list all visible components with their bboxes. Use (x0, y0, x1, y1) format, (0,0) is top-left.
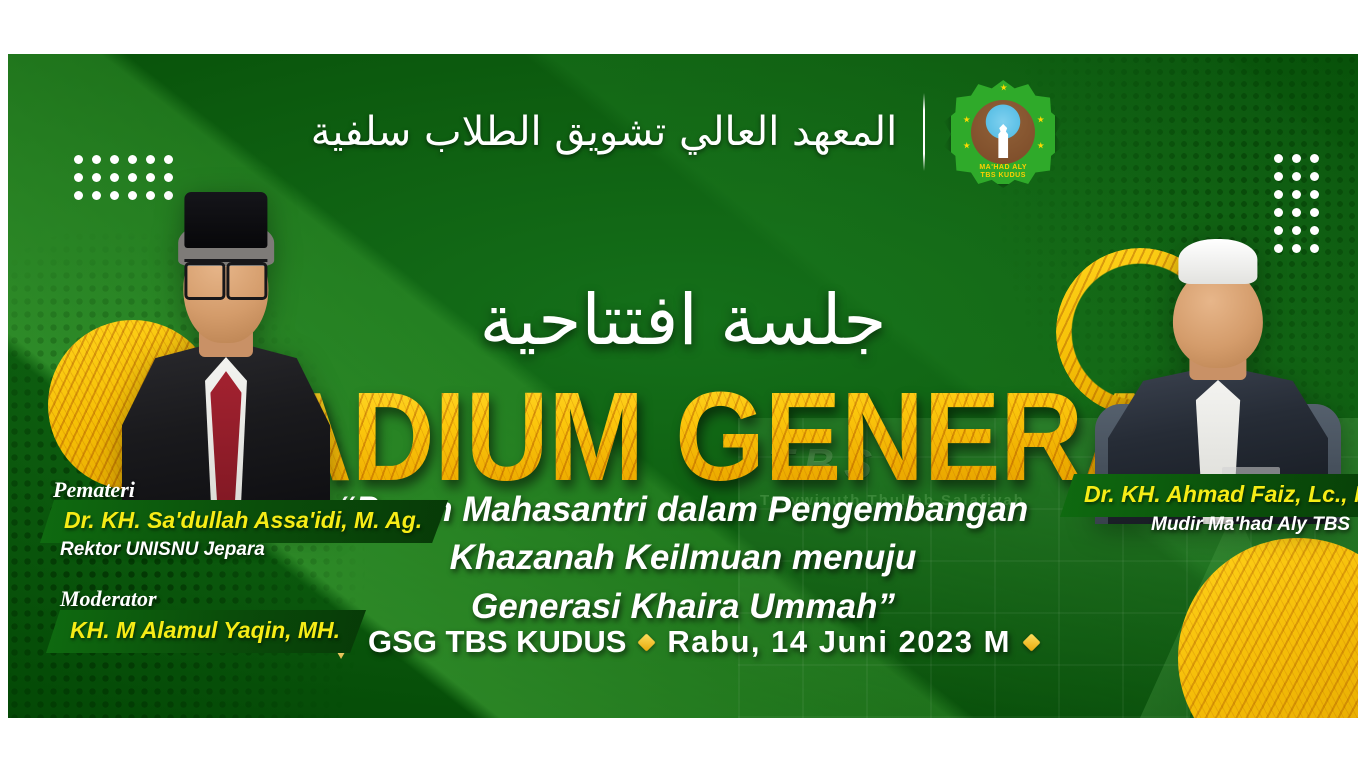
portrait-white-kopiah (1178, 239, 1257, 284)
diamond-separator-icon (638, 633, 656, 651)
portrait-glasses (184, 259, 267, 294)
event-banner: TBS Tasywiquth Thullab Salafiyah (8, 54, 1358, 718)
event-venue: GSG TBS KUDUS (368, 624, 626, 660)
header-divider (923, 93, 925, 171)
emblem-caption-line2: TBS KUDUS (981, 172, 1026, 179)
emblem-caption: MA'HAD ALY TBS KUDUS (951, 164, 1055, 180)
nameplate-pemateri: Dr. KH. Sa'dullah Assa'idi, M. Ag. (40, 500, 448, 543)
diamond-separator-icon (1022, 633, 1040, 651)
event-date: Rabu, 14 Juni 2023 M (667, 624, 1011, 660)
portrait-peci-cap (184, 192, 267, 248)
label-speaker-right-affiliation: Mudir Ma'had Aly TBS (1151, 514, 1350, 536)
speaker-portrait-left (122, 174, 330, 526)
nameplate-speaker-right: Dr. KH. Ahmad Faiz, Lc., MA. (1060, 474, 1358, 517)
institute-arabic-name: المعهد العالي تشويق الطلاب سلفية (311, 103, 897, 161)
emblem-inner-circle (971, 100, 1035, 164)
emblem-minaret-icon (992, 124, 1014, 158)
label-pemateri-affiliation: Rektor UNISNU Jepara (60, 539, 265, 561)
banner-stage: TBS Tasywiquth Thullab Salafiyah (0, 0, 1366, 768)
label-moderator-role: Moderator (60, 586, 157, 612)
speaker-photo-left (26, 146, 336, 526)
label-pemateri-role: Pemateri (53, 477, 135, 503)
institution-emblem-icon: MA'HAD ALY TBS KUDUS (951, 80, 1055, 184)
nameplate-moderator: KH. M Alamul Yaqin, MH. (46, 610, 366, 653)
emblem-caption-line1: MA'HAD ALY (979, 164, 1027, 171)
